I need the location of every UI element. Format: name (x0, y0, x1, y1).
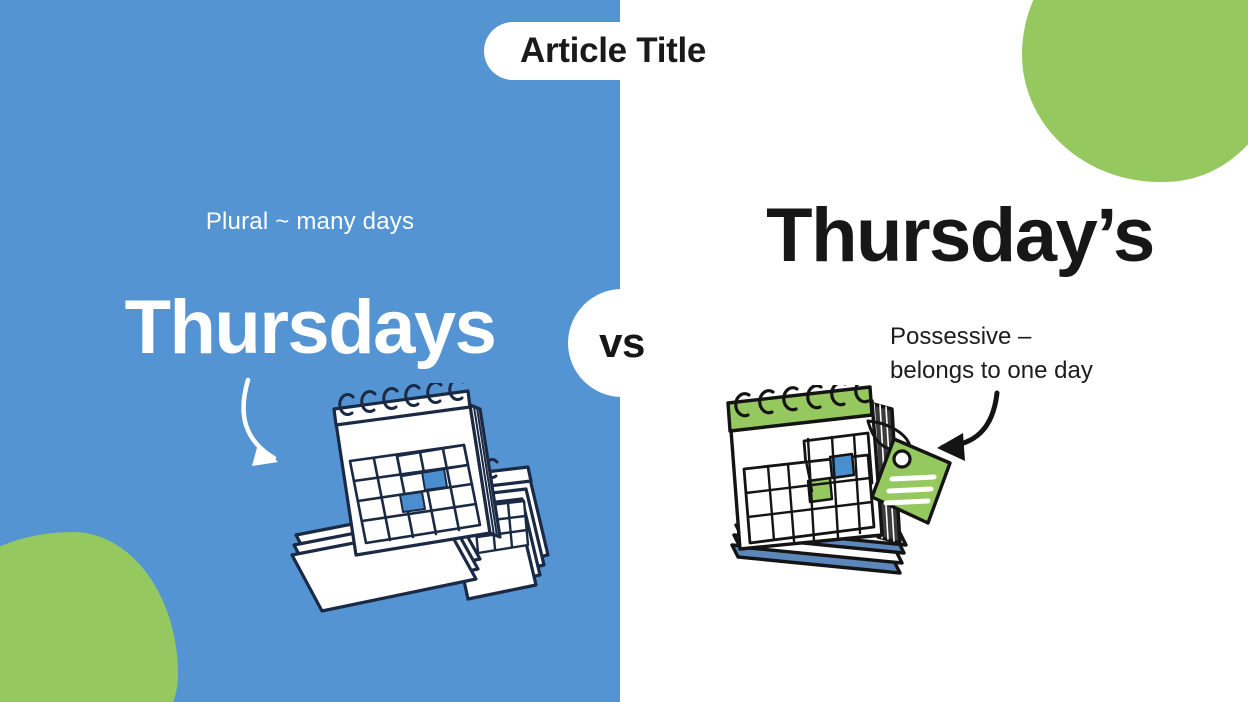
vs-badge: vs (568, 289, 676, 397)
stacked-calendars-icon (284, 383, 574, 618)
slide-canvas: Article Title Plural ~ many days Thursda… (0, 0, 1248, 702)
right-headword: Thursday’s (700, 198, 1220, 274)
left-caption: Plural ~ many days (0, 208, 620, 236)
calendar-with-tag-icon (722, 385, 972, 595)
page-title: Article Title (520, 31, 706, 71)
article-title-pill: Article Title (484, 22, 740, 80)
left-headword: Thursdays (0, 290, 620, 366)
right-caption: Possessive – belongs to one day (890, 320, 1180, 388)
vs-label: vs (599, 319, 645, 367)
